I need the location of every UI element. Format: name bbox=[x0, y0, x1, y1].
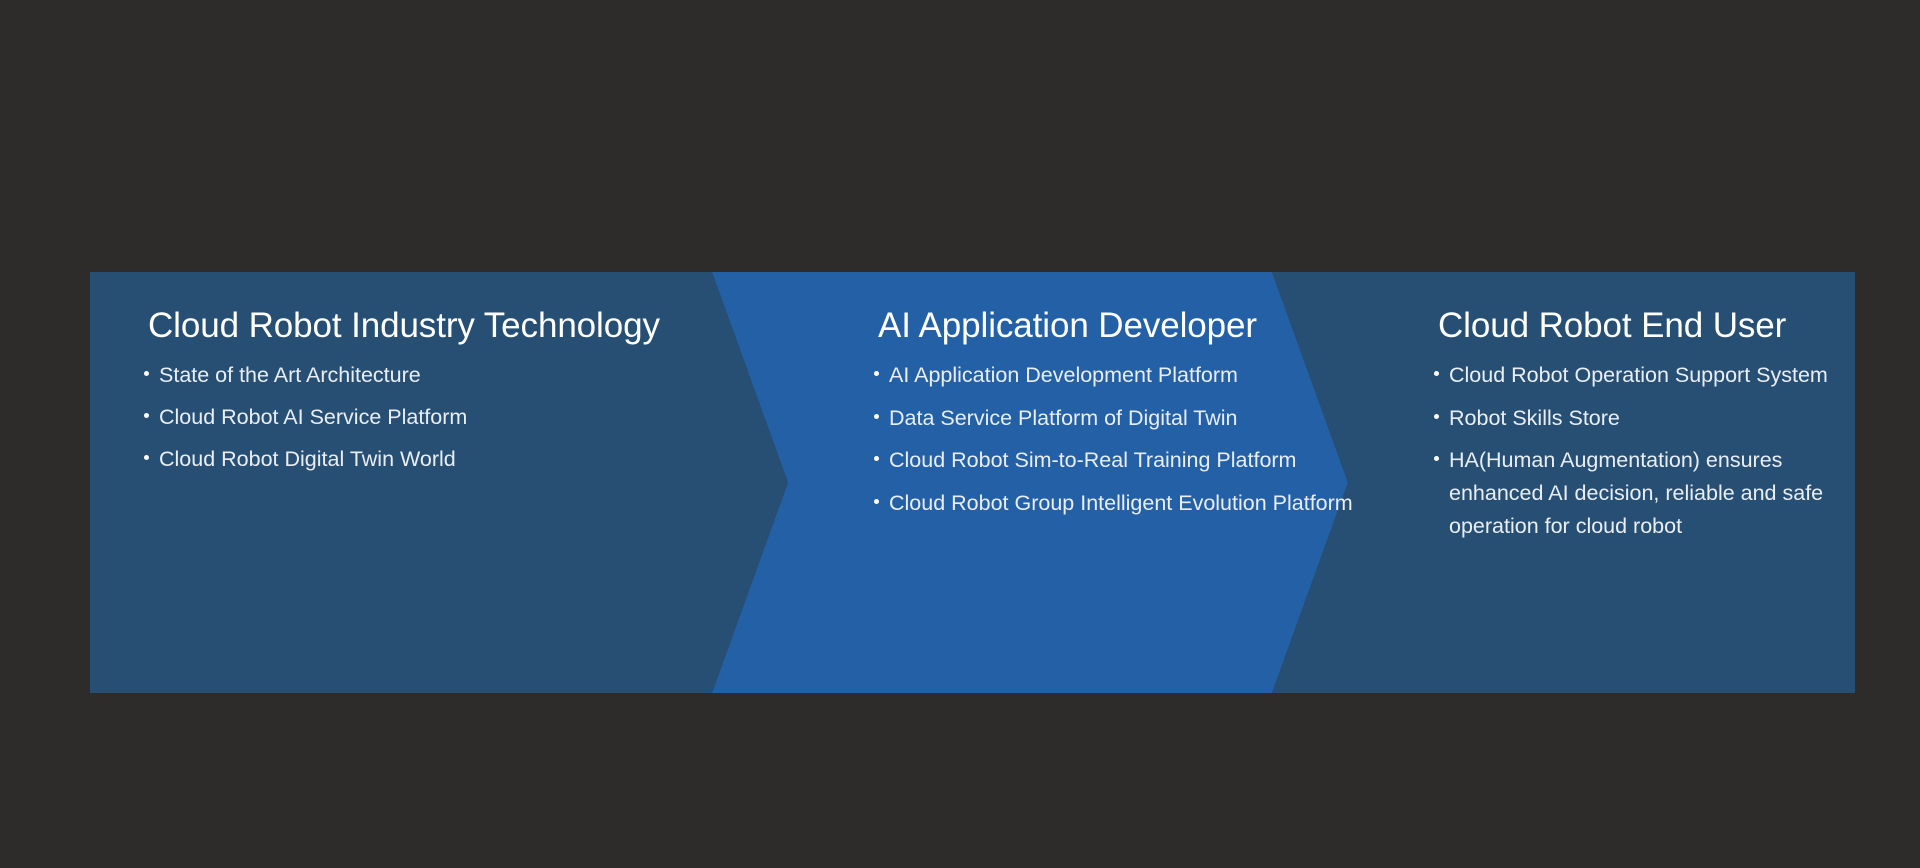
list-item: State of the Art Architecture bbox=[142, 359, 742, 392]
list-item: Cloud Robot AI Service Platform bbox=[142, 401, 742, 434]
list-item: AI Application Development Platform bbox=[872, 359, 1352, 392]
list-item: Cloud Robot Group Intelligent Evolution … bbox=[872, 487, 1352, 520]
list-item: Cloud Robot Digital Twin World bbox=[142, 443, 742, 476]
list-item: Cloud Robot Operation Support System bbox=[1432, 359, 1852, 392]
three-stage-chevron-banner: Cloud Robot Industry Technology State of… bbox=[90, 272, 1855, 693]
list-item: Cloud Robot Sim-to-Real Training Platfor… bbox=[872, 444, 1352, 477]
panel-bullet-list: AI Application Development Platform Data… bbox=[872, 359, 1352, 530]
panel-cloud-robot-end-user: Cloud Robot End User Cloud Robot Operati… bbox=[1362, 272, 1855, 693]
panel-bullet-list: Cloud Robot Operation Support System Rob… bbox=[1432, 359, 1852, 552]
panel-title: Cloud Robot End User bbox=[1438, 307, 1855, 346]
panel-ai-application-developer: AI Application Developer AI Application … bbox=[802, 272, 1362, 693]
panel-cloud-robot-industry-technology: Cloud Robot Industry Technology State of… bbox=[90, 272, 802, 693]
list-item: Data Service Platform of Digital Twin bbox=[872, 402, 1352, 435]
panel-title: Cloud Robot Industry Technology bbox=[148, 307, 802, 346]
list-item: HA(Human Augmentation) ensures enhanced … bbox=[1432, 444, 1852, 542]
slide-canvas: Cloud Robot Industry Technology State of… bbox=[0, 0, 1920, 868]
panel-title: AI Application Developer bbox=[878, 307, 1362, 346]
list-item: Robot Skills Store bbox=[1432, 402, 1852, 435]
panel-bullet-list: State of the Art Architecture Cloud Robo… bbox=[142, 359, 742, 486]
